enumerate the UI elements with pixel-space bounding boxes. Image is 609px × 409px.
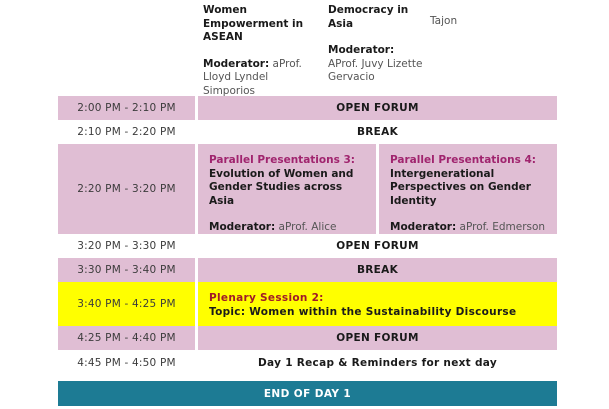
plenary-session-topic: Topic: Women within the Sustainability D…	[209, 305, 557, 319]
parallel-session-3: Parallel Presentations 3: Evolution of W…	[198, 144, 376, 234]
carryover-column-tajon: Tajon	[430, 4, 540, 39]
table-row: 3:30 PM - 3:40 PM BREAK	[58, 258, 557, 282]
schedule-table: 2:00 PM - 2:10 PM OPEN FORUM 2:10 PM - 2…	[58, 96, 557, 375]
plenary-session-heading: Plenary Session 2:	[209, 291, 557, 305]
carryover-moderator: Moderator: aProf. Lloyd Lyndel Simporios	[203, 58, 323, 99]
row-time: 2:00 PM - 2:10 PM	[58, 96, 195, 120]
row-time: 3:20 PM - 3:30 PM	[58, 234, 195, 258]
row-time: 2:20 PM - 3:20 PM	[58, 144, 195, 234]
row-label: OPEN FORUM	[198, 234, 557, 258]
parallel-session-subtitle: Intergenerational Perspectives on Gender…	[390, 168, 546, 209]
carryover-session-title: Women Empowerment in ASEAN	[203, 4, 323, 45]
parallel-session-subtitle: Evolution of Women and Gender Studies ac…	[209, 168, 365, 209]
moderator-label: Moderator:	[328, 44, 394, 56]
row-time: 4:25 PM - 4:40 PM	[58, 326, 195, 350]
table-row: 4:25 PM - 4:40 PM OPEN FORUM	[58, 326, 557, 350]
row-label: BREAK	[198, 120, 557, 144]
parallel-session-heading: Parallel Presentations 4:	[390, 154, 546, 168]
moderator-label: Moderator:	[209, 221, 275, 233]
table-row: 3:20 PM - 3:30 PM OPEN FORUM	[58, 234, 557, 258]
moderator-name: AProf. Juvy Lizette Gervacio	[328, 58, 422, 84]
row-label: OPEN FORUM	[198, 96, 557, 120]
row-time: 2:10 PM - 2:20 PM	[58, 120, 195, 144]
plenary-session-body: Plenary Session 2: Topic: Women within t…	[198, 282, 557, 326]
schedule-page: Women Empowerment in ASEAN Moderator: aP…	[0, 0, 609, 409]
parallel-sessions-wrapper: Parallel Presentations 3: Evolution of W…	[198, 144, 557, 234]
parallel-session-4: Parallel Presentations 4: Intergeneratio…	[379, 144, 557, 234]
row-time: 4:45 PM - 4:50 PM	[58, 350, 195, 375]
carryover-column-women-empowerment: Women Empowerment in ASEAN Moderator: aP…	[203, 4, 323, 98]
carryover-session-header: Women Empowerment in ASEAN Moderator: aP…	[0, 0, 609, 94]
table-row: 4:45 PM - 4:50 PM Day 1 Recap & Reminder…	[58, 350, 557, 375]
table-row-plenary-session: 3:40 PM - 4:25 PM Plenary Session 2: Top…	[58, 282, 557, 326]
carryover-session-title: Democracy in Asia	[328, 4, 428, 31]
moderator-label: Moderator:	[203, 58, 269, 70]
table-row: 2:00 PM - 2:10 PM OPEN FORUM	[58, 96, 557, 120]
row-time: 3:30 PM - 3:40 PM	[58, 258, 195, 282]
parallel-session-heading: Parallel Presentations 3:	[209, 154, 365, 168]
carryover-column-democracy-in-asia: Democracy in Asia Moderator:AProf. Juvy …	[328, 4, 428, 85]
row-time: 3:40 PM - 4:25 PM	[58, 282, 195, 326]
table-row: 2:10 PM - 2:20 PM BREAK	[58, 120, 557, 144]
moderator-label: Moderator:	[390, 221, 456, 233]
row-label: BREAK	[198, 258, 557, 282]
carryover-moderator: Moderator:AProf. Juvy Lizette Gervacio	[328, 44, 428, 85]
row-label: OPEN FORUM	[198, 326, 557, 350]
carryover-plain-name: Tajon	[430, 15, 540, 29]
row-label: Day 1 Recap & Reminders for next day	[198, 350, 557, 375]
table-row-parallel-presentations: 2:20 PM - 3:20 PM Parallel Presentations…	[58, 144, 557, 234]
end-of-day-banner: END OF DAY 1	[58, 381, 557, 406]
